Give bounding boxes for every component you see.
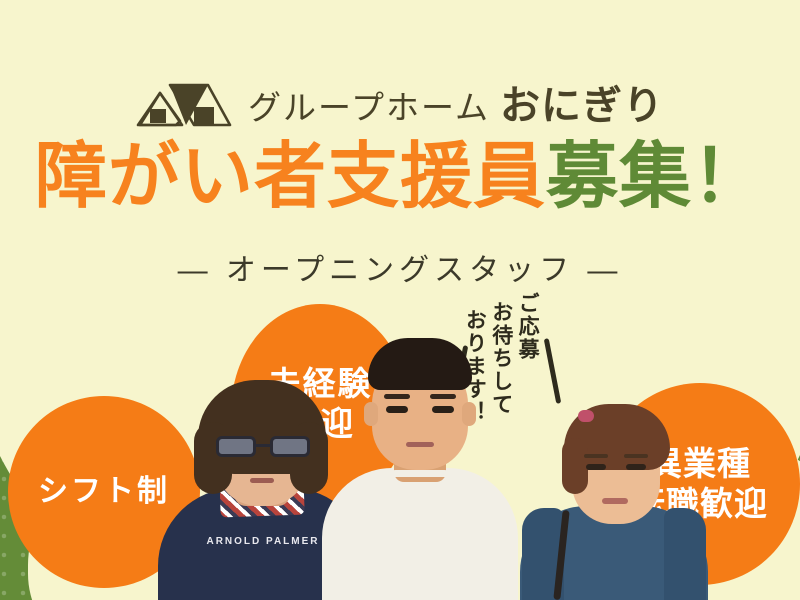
right-brow-right [624, 454, 648, 458]
glasses-bridge [256, 444, 270, 447]
staff-photo-center [322, 330, 518, 600]
staff-photo-right [520, 404, 708, 600]
center-mouth [406, 442, 434, 447]
recruitment-poster: グループホーム おにぎり 障がい者支援員募集！ — オープニングスタッフ — シ… [0, 0, 800, 600]
right-hair-side [562, 438, 588, 494]
center-hair [368, 338, 472, 390]
right-eye-left [586, 464, 606, 470]
center-ear-left [364, 402, 378, 426]
center-eye-left [386, 406, 408, 413]
center-eye-right [432, 406, 454, 413]
right-lens [270, 436, 310, 457]
center-ear-right [462, 402, 476, 426]
right-brow-left [584, 454, 608, 458]
left-mouth [250, 478, 274, 483]
right-ruffle-right [664, 508, 706, 600]
center-brow-right [430, 394, 456, 399]
right-hair-clip [578, 410, 594, 422]
center-collar [380, 470, 460, 496]
left-lens [216, 436, 256, 457]
center-brow-left [384, 394, 410, 399]
right-mouth [602, 498, 628, 504]
left-hair-side-left [194, 422, 232, 494]
staff-photo-group: ARNOLD PALMER [0, 0, 800, 600]
sweatshirt-logo-text: ARNOLD PALMER [196, 536, 330, 547]
glasses-icon [216, 436, 310, 457]
right-eye-right [626, 464, 646, 470]
